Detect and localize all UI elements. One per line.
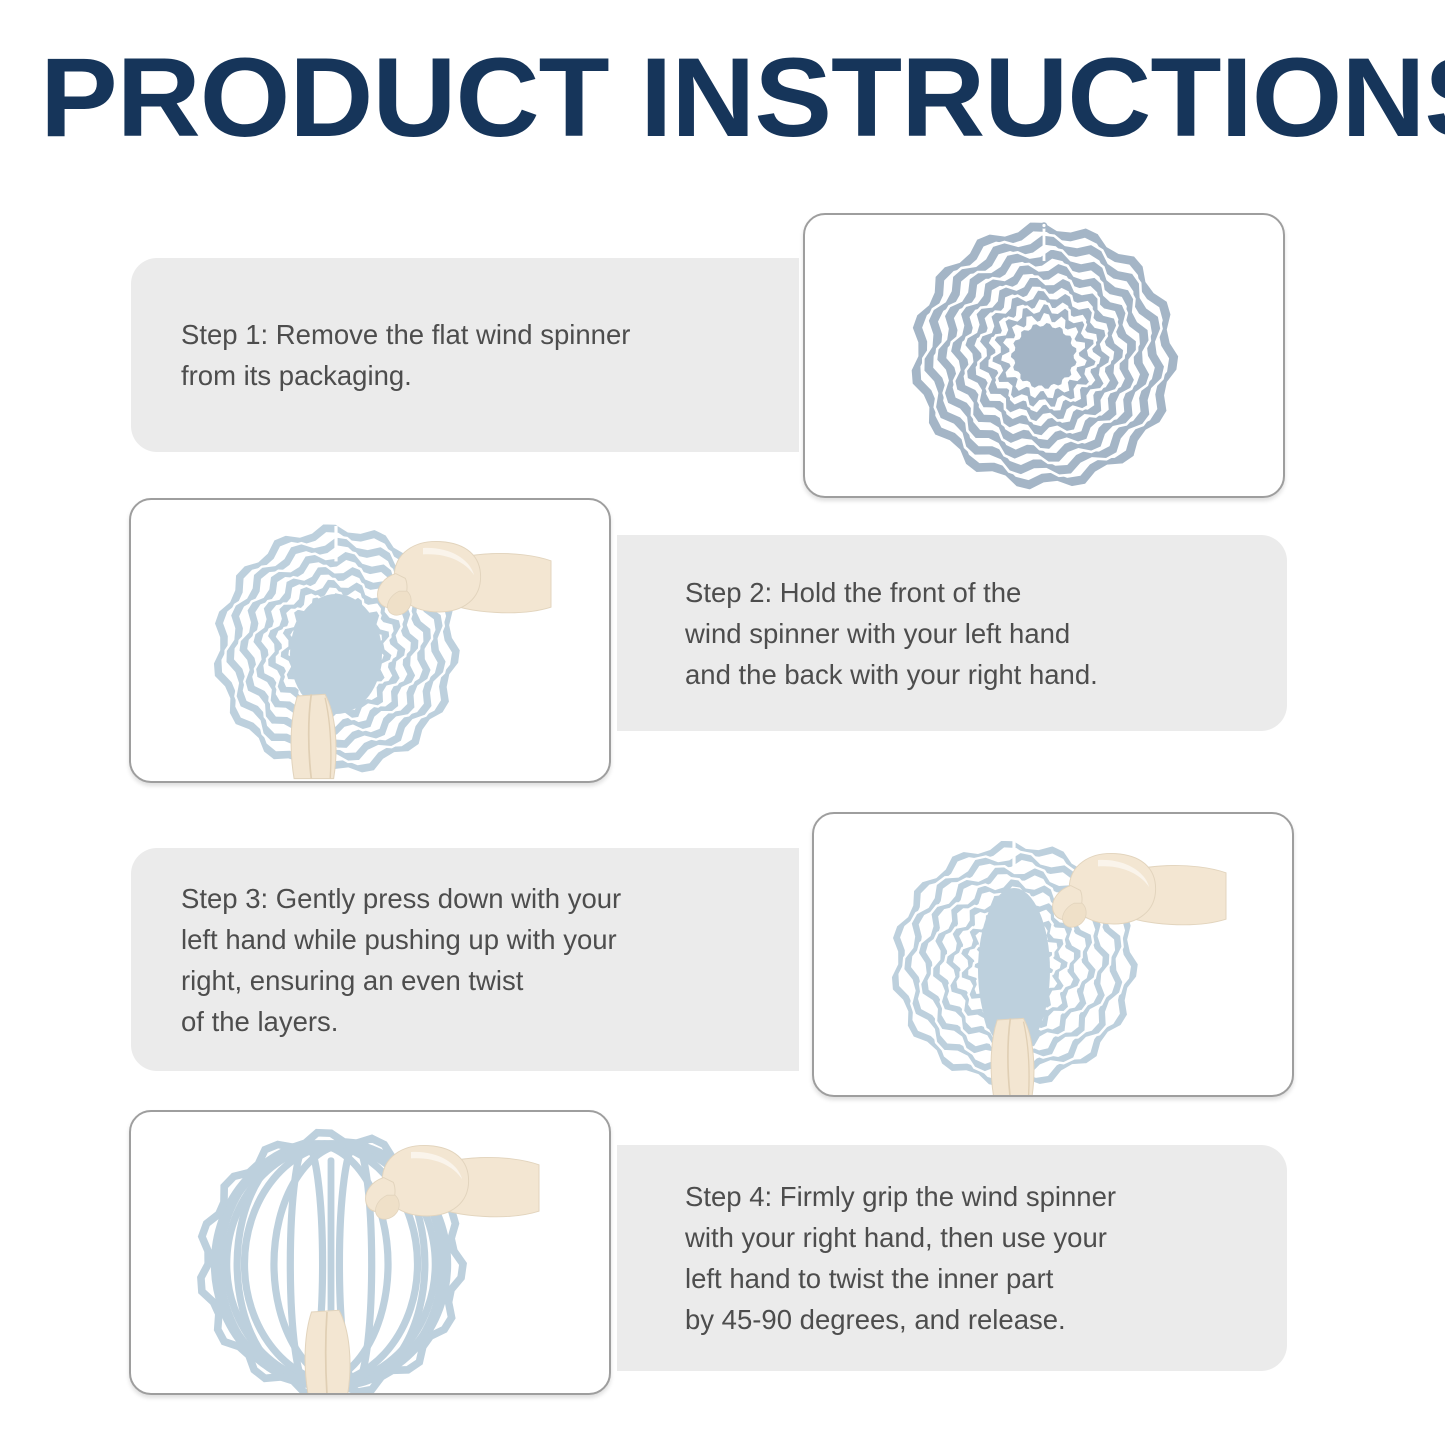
hands-twisting-spinner-illustration (814, 814, 1292, 1095)
hands-holding-flat-spinner-illustration (131, 500, 609, 781)
step-1-image-card (803, 213, 1285, 498)
gloved-left-hand-fingers (991, 1018, 1034, 1095)
step-4-image-card (129, 1110, 611, 1395)
step-3-text: Step 3: Gently press down with your left… (181, 878, 621, 1042)
step-1-text: Step 1: Remove the flat wind spinner fro… (181, 314, 630, 396)
step-3-image-card (812, 812, 1294, 1097)
gloved-left-hand-fingers (305, 1310, 350, 1393)
fully-twisted-spinner-illustration (131, 1112, 609, 1393)
page-title: PRODUCT INSTRUCTIONS (40, 42, 1445, 154)
gloved-right-hand (378, 541, 551, 615)
step-2-image-card (129, 498, 611, 783)
step-2-text: Step 2: Hold the front of the wind spinn… (685, 572, 1098, 695)
flat-wind-spinner-illustration (805, 215, 1283, 496)
step-4-text: Step 4: Firmly grip the wind spinner wit… (685, 1176, 1116, 1340)
step-2-text-card: Step 2: Hold the front of the wind spinn… (617, 535, 1287, 731)
step-1-text-card: Step 1: Remove the flat wind spinner fro… (131, 258, 799, 452)
step-3-text-card: Step 3: Gently press down with your left… (131, 848, 799, 1071)
gloved-left-hand-fingers (291, 694, 336, 778)
step-4-text-card: Step 4: Firmly grip the wind spinner wit… (617, 1145, 1287, 1371)
gloved-right-hand (1053, 853, 1226, 927)
gloved-right-hand (366, 1145, 539, 1219)
